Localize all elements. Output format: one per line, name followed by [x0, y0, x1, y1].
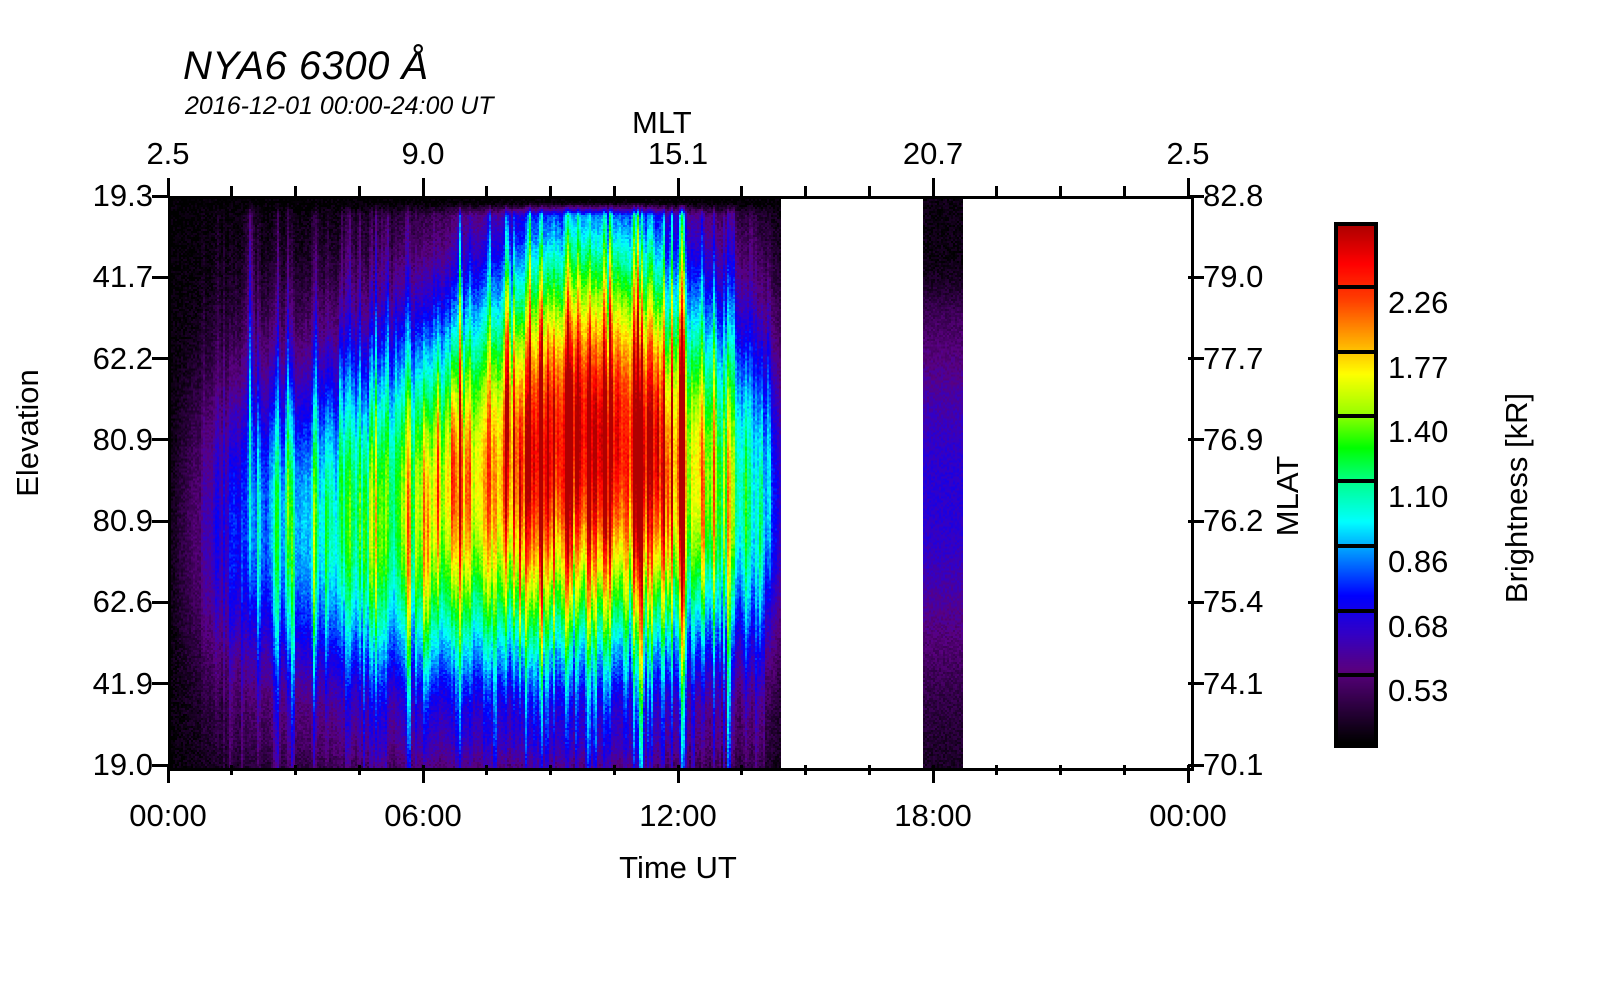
mlat-tick-label: 74.1 — [1203, 666, 1263, 702]
axis-tick-mark — [152, 520, 168, 523]
axis-tick-mark — [152, 601, 168, 604]
axis-tick-mark — [1059, 765, 1062, 775]
axis-tick-mark — [167, 178, 170, 196]
elevation-tick-label: 80.9 — [93, 503, 153, 539]
colorbar-tick-label: 0.86 — [1388, 544, 1448, 580]
axis-tick-mark — [485, 765, 488, 775]
mlat-tick-label: 77.7 — [1203, 341, 1263, 377]
axis-tick-mark — [1123, 765, 1126, 775]
time-tick-label: 00:00 — [129, 798, 207, 834]
elevation-tick-label: 62.2 — [93, 341, 153, 377]
axis-tick-mark — [549, 765, 552, 775]
axis-tick-mark — [1188, 438, 1204, 441]
colorbar-gradient — [1338, 226, 1374, 744]
elevation-tick-label: 41.9 — [93, 666, 153, 702]
axis-tick-mark — [804, 765, 807, 775]
time-tick-label: 00:00 — [1149, 798, 1227, 834]
axis-tick-mark — [677, 765, 680, 783]
mlat-axis-title: MLAT — [1270, 411, 1306, 581]
axis-tick-mark — [152, 195, 168, 198]
colorbar-separator — [1334, 479, 1378, 483]
mlat-tick-label: 76.2 — [1203, 503, 1263, 539]
axis-tick-mark — [1188, 357, 1204, 360]
mlt-tick-label: 20.7 — [903, 136, 963, 172]
axis-tick-mark — [613, 186, 616, 196]
colorbar-separator — [1334, 609, 1378, 613]
elevation-axis-title: Elevation — [10, 323, 46, 543]
colorbar-separator — [1334, 673, 1378, 677]
axis-tick-mark — [613, 765, 616, 775]
axis-tick-mark — [152, 276, 168, 279]
elevation-tick-label: 41.7 — [93, 259, 153, 295]
axis-tick-mark — [677, 178, 680, 196]
axis-tick-mark — [868, 765, 871, 775]
mlat-tick-label: 76.9 — [1203, 422, 1263, 458]
colorbar-separator — [1334, 285, 1378, 289]
colorbar-tick-label: 2.26 — [1388, 285, 1448, 321]
mlat-tick-label: 82.8 — [1203, 178, 1263, 214]
colorbar-tick-label: 1.10 — [1388, 479, 1448, 515]
axis-tick-mark — [485, 186, 488, 196]
colorbar-separator — [1334, 350, 1378, 354]
axis-tick-mark — [1187, 178, 1190, 196]
axis-tick-mark — [358, 765, 361, 775]
colorbar-tick-label: 0.68 — [1388, 609, 1448, 645]
elevation-tick-label: 80.9 — [93, 422, 153, 458]
axis-tick-mark — [804, 186, 807, 196]
axis-tick-mark — [1188, 764, 1204, 767]
mlt-tick-label: 15.1 — [648, 136, 708, 172]
axis-tick-mark — [868, 186, 871, 196]
axis-tick-mark — [740, 186, 743, 196]
axis-tick-mark — [230, 186, 233, 196]
colorbar-separator — [1334, 414, 1378, 418]
colorbar-separator — [1334, 544, 1378, 548]
elevation-tick-label: 19.0 — [93, 747, 153, 783]
mlat-tick-label: 75.4 — [1203, 584, 1263, 620]
axis-tick-mark — [1123, 186, 1126, 196]
axis-tick-mark — [294, 765, 297, 775]
mlat-tick-label: 79.0 — [1203, 259, 1263, 295]
mlt-tick-label: 2.5 — [1166, 136, 1209, 172]
axis-tick-mark — [932, 178, 935, 196]
time-tick-label: 06:00 — [384, 798, 462, 834]
axis-tick-mark — [1188, 682, 1204, 685]
axis-tick-mark — [294, 186, 297, 196]
colorbar-axis-title: Brightness [kR] — [1499, 333, 1535, 663]
axis-tick-mark — [167, 765, 170, 783]
time-tick-label: 12:00 — [639, 798, 717, 834]
mlt-tick-label: 2.5 — [146, 136, 189, 172]
elevation-tick-label: 62.6 — [93, 584, 153, 620]
keogram-plot-area — [168, 196, 1194, 771]
colorbar-tick-label: 0.53 — [1388, 673, 1448, 709]
axis-tick-mark — [1188, 601, 1204, 604]
axis-tick-mark — [230, 765, 233, 775]
page-title: NYA6 6300 Å — [183, 44, 429, 89]
axis-tick-mark — [152, 764, 168, 767]
colorbar-tick-label: 1.77 — [1388, 350, 1448, 386]
axis-tick-mark — [422, 178, 425, 196]
axis-tick-mark — [1188, 195, 1204, 198]
brightness-colorbar — [1334, 222, 1378, 748]
axis-tick-mark — [152, 438, 168, 441]
time-tick-label: 18:00 — [894, 798, 972, 834]
keogram-image — [171, 199, 1191, 768]
time-axis-title: Time UT — [0, 850, 1356, 886]
page-subtitle: 2016-12-01 00:00-24:00 UT — [185, 92, 494, 121]
axis-tick-mark — [932, 765, 935, 783]
axis-tick-mark — [549, 186, 552, 196]
axis-tick-mark — [995, 186, 998, 196]
axis-tick-mark — [995, 765, 998, 775]
axis-tick-mark — [1187, 765, 1190, 783]
colorbar-tick-label: 1.40 — [1388, 414, 1448, 450]
axis-tick-mark — [1059, 186, 1062, 196]
mlt-tick-label: 9.0 — [401, 136, 444, 172]
axis-tick-mark — [740, 765, 743, 775]
axis-tick-mark — [358, 186, 361, 196]
axis-tick-mark — [1188, 520, 1204, 523]
elevation-tick-label: 19.3 — [93, 178, 153, 214]
axis-tick-mark — [1188, 276, 1204, 279]
mlat-tick-label: 70.1 — [1203, 747, 1263, 783]
axis-tick-mark — [152, 357, 168, 360]
axis-tick-mark — [152, 682, 168, 685]
axis-tick-mark — [422, 765, 425, 783]
